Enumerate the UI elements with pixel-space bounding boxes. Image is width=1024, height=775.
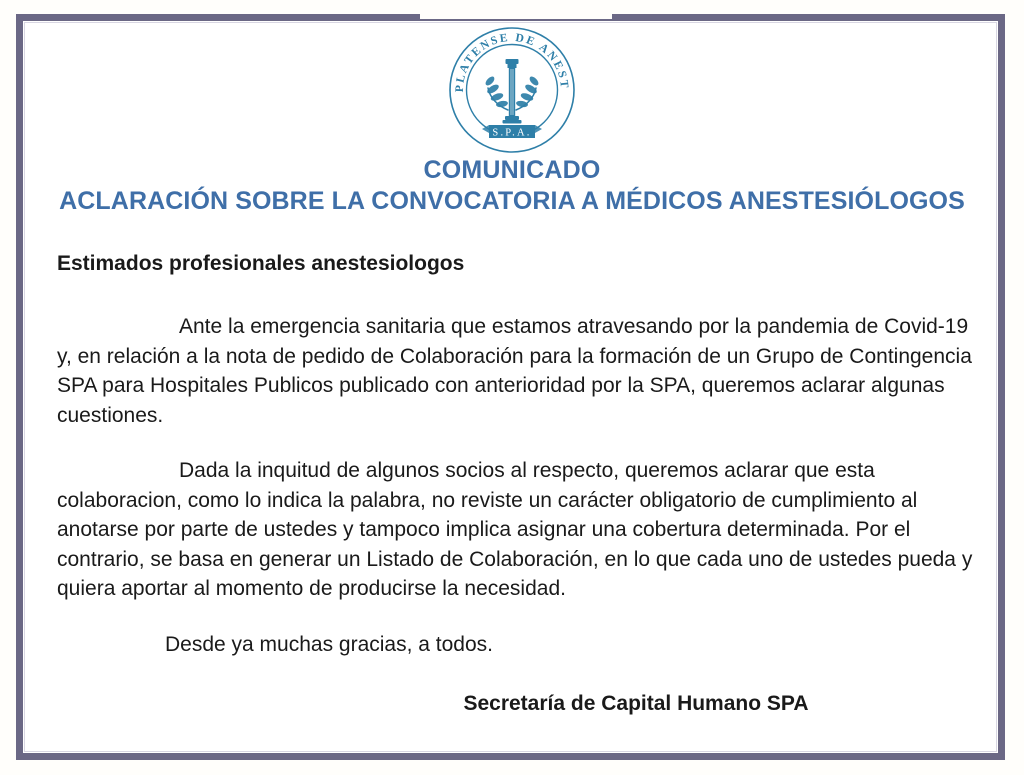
page-subtitle: ACLARACIÓN SOBRE LA CONVOCATORIA A MÉDIC… xyxy=(0,185,1024,218)
sociedad-platense-de-anestesiologia-seal-icon: SOCIEDAD PLATENSE DE ANESTESIOLOGIA xyxy=(448,26,576,154)
closing-line: Desde ya muchas gracias, a todos. xyxy=(57,630,982,660)
svg-text:S.P.A.: S.P.A. xyxy=(492,128,531,139)
seal-container: SOCIEDAD PLATENSE DE ANESTESIOLOGIA xyxy=(0,26,1024,159)
heading-block: COMUNICADO ACLARACIÓN SOBRE LA CONVOCATO… xyxy=(0,155,1024,218)
document-content: SOCIEDAD PLATENSE DE ANESTESIOLOGIA xyxy=(0,0,1024,775)
signature-line: Secretaría de Capital Humano SPA xyxy=(0,692,1024,716)
paragraph-2: Dada la inquitud de algunos socios al re… xyxy=(57,456,982,604)
page-title: COMUNICADO xyxy=(0,155,1024,185)
communique-page: SOCIEDAD PLATENSE DE ANESTESIOLOGIA xyxy=(0,0,1024,775)
paragraph-1: Ante la emergencia sanitaria que estamos… xyxy=(57,312,982,430)
salutation: Estimados profesionales anestesiologos xyxy=(57,250,982,278)
letter-body: Estimados profesionales anestesiologos A… xyxy=(57,250,982,659)
